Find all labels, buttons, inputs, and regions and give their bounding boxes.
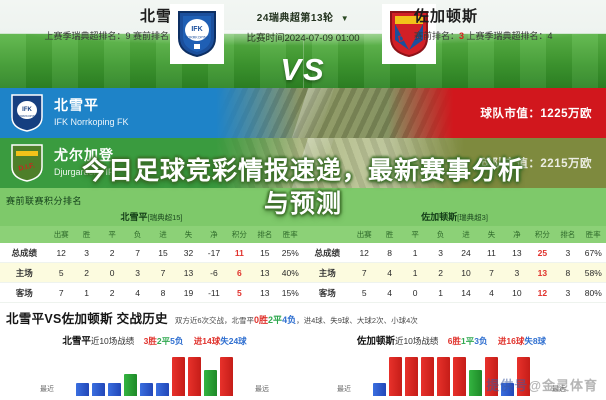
- svg-text:NORRKOPING: NORRKOPING: [185, 36, 210, 40]
- away-form-team: 佐加顿斯: [357, 336, 395, 347]
- cell-排名: 3: [555, 243, 580, 263]
- cell-进: 10: [453, 263, 478, 283]
- cell-积分: 13: [530, 263, 555, 283]
- standings-section: 赛前联赛积分排名 北雪平[瑞典超15] 佐加顿斯[瑞典超3] 出赛胜平负进失净积…: [0, 188, 606, 303]
- away-team-strip: D.I.F. 尤尔加登 Djurgardens IF 球队市值：2215万欧: [0, 138, 606, 188]
- cell-净: 13: [504, 243, 529, 263]
- cell-出赛: 7: [48, 283, 73, 303]
- left-table-title: 北雪平[瑞典超15]: [0, 208, 303, 226]
- h2h-summary-suffix: ，进4球、失9球、大球2次、小球4次: [296, 316, 418, 325]
- cell-排名: 3: [555, 283, 580, 303]
- table-row: 客场54011441012380%: [303, 283, 606, 303]
- table-row: 客场7124819-1151315%: [0, 283, 303, 303]
- cell-胜: 3: [74, 243, 99, 263]
- watermark: 提供号@金灵体育: [486, 375, 598, 394]
- form-bar-l: [76, 383, 89, 396]
- form-bar-w: [389, 357, 402, 396]
- watermark-text: @金灵体育: [528, 378, 598, 393]
- home-form-w: 3胜: [144, 336, 157, 346]
- form-bar-l: [92, 383, 105, 396]
- away-team-header: 佐加顿斯 赛前排名：3 上赛季瑞典超排名：4: [406, 8, 606, 43]
- cell-负: 7: [125, 243, 150, 263]
- away-form-record: 6胜1平3负: [448, 336, 488, 346]
- away-prematch-rank-label: 赛前排名：: [414, 31, 459, 41]
- cell-平: 1: [402, 263, 427, 283]
- cell-积分: 12: [530, 283, 555, 303]
- cell-排名: 13: [252, 283, 277, 303]
- table-col-进: 进: [150, 226, 175, 243]
- table-col-排名: 排名: [555, 226, 580, 243]
- home-form-heading: 北雪平近10场战绩 3胜2平5负 进14球失24球: [6, 333, 303, 347]
- standings-titles: 北雪平[瑞典超15] 佐加顿斯[瑞典超3]: [0, 208, 606, 226]
- away-last-season-rank: 上赛季瑞典超排名：4: [467, 31, 553, 41]
- cell-胜: 4: [377, 283, 402, 303]
- cell-胜: 2: [74, 263, 99, 283]
- away-prematch-rank-value: 3: [459, 31, 464, 41]
- cell-失: 7: [479, 263, 504, 283]
- h2h-summary-prefix: 双方近6次交战，北雪平: [175, 316, 254, 325]
- home-team-header: 北雪平 上赛季瑞典超排名：9 赛前排名：15: [0, 8, 196, 43]
- standings-section-label: 赛前联赛积分排名: [0, 192, 606, 208]
- table-col-负: 负: [125, 226, 150, 243]
- home-strip-value-panel: 球队市值：1225万欧: [388, 88, 606, 138]
- form-bar-w: [437, 357, 450, 396]
- form-bar-d: [204, 370, 217, 396]
- svg-text:NORRKOPING: NORRKOPING: [17, 114, 38, 118]
- form-bar-w: [172, 357, 185, 396]
- standings-tables: 出赛胜平负进失净积分排名胜率 总成绩123271532-17111525%主场5…: [0, 226, 606, 303]
- cell-进: 15: [150, 243, 175, 263]
- cell-失: 11: [479, 243, 504, 263]
- cell-失: 13: [176, 263, 201, 283]
- table-col-胜率: 胜率: [278, 226, 303, 243]
- cell-出赛: 5: [351, 283, 376, 303]
- table-col-净: 净: [504, 226, 529, 243]
- cell-平: 2: [99, 243, 124, 263]
- cell-胜: 8: [377, 243, 402, 263]
- table-col-胜率: 胜率: [581, 226, 606, 243]
- home-last-season-rank: 上赛季瑞典超排名：9: [44, 31, 130, 41]
- form-bar-d: [124, 374, 137, 396]
- table-col-平: 平: [99, 226, 124, 243]
- cell-排名: 13: [252, 263, 277, 283]
- table-col-胜: 胜: [74, 226, 99, 243]
- table-col-rowlabel: [0, 226, 48, 243]
- cell-净: -17: [201, 243, 226, 263]
- home-form-suffix: 近10场战绩: [91, 336, 134, 346]
- home-bars-near-label: 最近: [40, 384, 54, 394]
- form-bar-w: [453, 357, 466, 396]
- cell-负: 4: [125, 283, 150, 303]
- away-bars-near-label: 最近: [337, 384, 351, 394]
- right-table-rank: [瑞典超3]: [457, 213, 488, 222]
- away-team-meta: 赛前排名：3 上赛季瑞典超排名：4: [414, 29, 606, 43]
- cell-净: 3: [504, 263, 529, 283]
- away-form-l: 3负: [474, 336, 487, 346]
- kickoff-time: 比赛时间2024-07-09 01:00: [226, 30, 380, 44]
- row-label: 总成绩: [0, 243, 48, 263]
- away-form-ga: 失8球: [524, 336, 546, 346]
- cell-出赛: 5: [48, 263, 73, 283]
- ifk-norrkoping-crest-icon: IFK NORRKOPING: [177, 10, 217, 58]
- table-col-rowlabel: [303, 226, 351, 243]
- table-row: 主场5203713-661340%: [0, 263, 303, 283]
- cell-净: -6: [201, 263, 226, 283]
- match-header: 北雪平 上赛季瑞典超排名：9 赛前排名：15 IFK NORRKOPING: [0, 0, 606, 88]
- row-label: 主场: [0, 263, 48, 283]
- cell-净: -11: [201, 283, 226, 303]
- row-label: 客场: [303, 283, 351, 303]
- home-form-goals: 进14球失24球: [194, 336, 247, 346]
- table-col-积分: 积分: [227, 226, 252, 243]
- table-col-失: 失: [479, 226, 504, 243]
- round-selector[interactable]: 24瑞典超第13轮 ▼: [226, 9, 380, 24]
- table-col-净: 净: [201, 226, 226, 243]
- djurgardens-crest-icon: D.I.F.: [10, 143, 44, 183]
- home-form-team: 北雪平: [62, 336, 91, 347]
- svg-text:IFK: IFK: [191, 26, 202, 33]
- h2h-title: 北雪平VS佐加顿斯 交战历史: [6, 308, 168, 327]
- cell-进: 14: [453, 283, 478, 303]
- home-form-ga: 失24球: [220, 336, 246, 346]
- away-strip-en-name: Djurgardens IF: [54, 166, 114, 179]
- row-label: 客场: [0, 283, 48, 303]
- cell-平: 0: [99, 263, 124, 283]
- h2h-losses: 4负: [282, 315, 296, 325]
- chevron-down-icon[interactable]: ▼: [341, 14, 349, 23]
- table-row: 主场7412107313858%: [303, 263, 606, 283]
- table-col-出赛: 出赛: [351, 226, 376, 243]
- home-market-value: 球队市值：1225万欧: [480, 105, 592, 121]
- form-bar-w: [220, 357, 233, 396]
- cell-失: 32: [176, 243, 201, 263]
- cell-平: 0: [402, 283, 427, 303]
- h2h-summary: 双方近6次交战，北雪平0胜2平4负，进4球、失9球、大球2次、小球4次: [175, 313, 418, 326]
- cell-平: 2: [99, 283, 124, 303]
- form-bar-d: [469, 370, 482, 396]
- form-bar-l: [156, 383, 169, 396]
- away-strip-value-panel: 球队市值：2215万欧: [388, 138, 606, 188]
- home-form-d: 2平: [157, 336, 170, 346]
- table-col-出赛: 出赛: [48, 226, 73, 243]
- table-col-积分: 积分: [530, 226, 555, 243]
- home-form-record: 3胜2平5负: [144, 336, 184, 346]
- home-strip-panel: IFK NORRKOPING 北雪平 IFK Norrkoping FK: [0, 88, 300, 138]
- cell-排名: 8: [555, 263, 580, 283]
- table-col-平: 平: [402, 226, 427, 243]
- home-team-name: 北雪平: [0, 8, 188, 26]
- away-form-w: 6胜: [448, 336, 461, 346]
- cell-胜率: 58%: [581, 263, 606, 283]
- h2h-draws: 2平: [268, 315, 282, 325]
- cell-胜率: 15%: [278, 283, 303, 303]
- home-strip-cn-name: 北雪平: [54, 97, 129, 114]
- table-col-负: 负: [428, 226, 453, 243]
- table-col-胜: 胜: [377, 226, 402, 243]
- cell-负: 1: [428, 283, 453, 303]
- home-standings-table: 出赛胜平负进失净积分排名胜率 总成绩123271532-17111525%主场5…: [0, 226, 303, 303]
- cell-排名: 15: [252, 243, 277, 263]
- cell-出赛: 12: [351, 243, 376, 263]
- form-bar-l: [140, 383, 153, 396]
- left-table-team: 北雪平: [120, 212, 147, 222]
- cell-进: 8: [150, 283, 175, 303]
- table-row: 总成绩1281324111325367%: [303, 243, 606, 263]
- table-header-row: 出赛胜平负进失净积分排名胜率: [303, 226, 606, 243]
- cell-胜率: 80%: [581, 283, 606, 303]
- cell-积分: 5: [227, 283, 252, 303]
- row-label: 主场: [303, 263, 351, 283]
- cell-积分: 25: [530, 243, 555, 263]
- home-team-strip: IFK NORRKOPING 北雪平 IFK Norrkoping FK 球队市…: [0, 88, 606, 138]
- home-strip-names: 北雪平 IFK Norrkoping FK: [54, 97, 129, 129]
- match-center-info: 24瑞典超第13轮 ▼ 比赛时间2024-07-09 01:00: [226, 9, 380, 44]
- left-table-rank: [瑞典超15]: [148, 213, 183, 222]
- article-image: 北雪平 上赛季瑞典超排名：9 赛前排名：15 IFK NORRKOPING: [0, 0, 606, 400]
- cell-胜率: 25%: [278, 243, 303, 263]
- home-form-l: 5负: [170, 336, 183, 346]
- form-bar-l: [373, 383, 386, 396]
- away-team-name: 佐加顿斯: [414, 8, 606, 26]
- home-form-column: 北雪平近10场战绩 3胜2平5负 进14球失24球 最近 最远: [6, 333, 303, 396]
- form-bar-w: [188, 357, 201, 396]
- away-strip-panel: D.I.F. 尤尔加登 Djurgardens IF: [0, 138, 300, 188]
- away-market-value: 球队市值：2215万欧: [480, 155, 592, 171]
- right-table-title: 佐加顿斯[瑞典超3]: [303, 208, 606, 226]
- form-bar-w: [405, 357, 418, 396]
- right-table-team: 佐加顿斯: [421, 212, 457, 222]
- cell-积分: 11: [227, 243, 252, 263]
- away-form-suffix: 近10场战绩: [395, 336, 438, 346]
- h2h-wins: 0胜: [254, 315, 268, 325]
- table-col-进: 进: [453, 226, 478, 243]
- away-form-d: 1平: [461, 336, 474, 346]
- home-team-meta: 上赛季瑞典超排名：9 赛前排名：15: [0, 29, 188, 43]
- away-form-heading: 佐加顿斯近10场战绩 6胜1平3负 进16球失8球: [303, 333, 600, 347]
- table-row: 总成绩123271532-17111525%: [0, 243, 303, 263]
- table-col-排名: 排名: [252, 226, 277, 243]
- svg-text:IFK: IFK: [22, 107, 32, 113]
- cell-净: 10: [504, 283, 529, 303]
- cell-进: 24: [453, 243, 478, 263]
- cell-胜率: 40%: [278, 263, 303, 283]
- home-strip-en-name: IFK Norrkoping FK: [54, 116, 129, 129]
- table-col-失: 失: [176, 226, 201, 243]
- cell-失: 4: [479, 283, 504, 303]
- away-form-goals: 进16球失8球: [498, 336, 546, 346]
- watermark-keyword: 提供号: [486, 378, 528, 393]
- cell-胜: 4: [377, 263, 402, 283]
- cell-出赛: 7: [351, 263, 376, 283]
- away-strip-cn-name: 尤尔加登: [54, 147, 114, 164]
- cell-负: 2: [428, 263, 453, 283]
- form-bar-l: [108, 383, 121, 396]
- cell-负: 3: [125, 263, 150, 283]
- cell-胜: 1: [74, 283, 99, 303]
- cell-出赛: 12: [48, 243, 73, 263]
- cell-胜率: 67%: [581, 243, 606, 263]
- away-form-gf: 进16球: [498, 336, 524, 346]
- cell-负: 3: [428, 243, 453, 263]
- cell-进: 7: [150, 263, 175, 283]
- home-bars-far-label: 最远: [255, 384, 269, 394]
- ifk-norrkoping-crest-icon: IFK NORRKOPING: [10, 93, 44, 133]
- table-header-row: 出赛胜平负进失净积分排名胜率: [0, 226, 303, 243]
- round-label: 24瑞典超第13轮: [257, 13, 334, 24]
- vs-label: VS: [0, 52, 606, 88]
- away-standings-table: 出赛胜平负进失净积分排名胜率 总成绩1281324111325367%主场741…: [303, 226, 606, 303]
- cell-平: 1: [402, 243, 427, 263]
- away-strip-names: 尤尔加登 Djurgardens IF: [54, 147, 114, 179]
- row-label: 总成绩: [303, 243, 351, 263]
- h2h-header: 北雪平VS佐加顿斯 交战历史 双方近6次交战，北雪平0胜2平4负，进4球、失9球…: [6, 308, 600, 327]
- form-bar-w: [421, 357, 434, 396]
- cell-积分: 6: [227, 263, 252, 283]
- home-form-gf: 进14球: [194, 336, 220, 346]
- cell-失: 19: [176, 283, 201, 303]
